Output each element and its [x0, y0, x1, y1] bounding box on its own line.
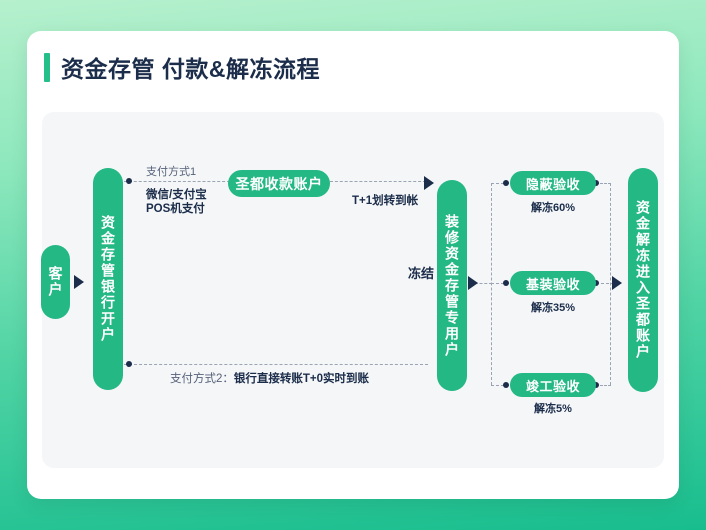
- label-payment-method-1-line2: POS机支付: [146, 202, 207, 216]
- node-escrow-special-account[interactable]: 装修资金存管专用户: [437, 180, 467, 391]
- flowchart-canvas: 资金存管 付款&解冻流程 客户 资金存管银行开户 圣都收款账户 装修资金存管专用…: [0, 0, 706, 530]
- milestone-unfreeze-2: 解冻5%: [498, 400, 608, 416]
- milestone-unfreeze-1: 解冻35%: [498, 299, 608, 315]
- node-bank-account-open[interactable]: 资金存管银行开户: [93, 168, 123, 390]
- node-unfreeze-to-shengdu[interactable]: 资金解冻进入圣都账户: [628, 168, 658, 392]
- milestone-concealed-acceptance[interactable]: 隐蔽验收: [510, 171, 596, 195]
- label-payment-method-1: 支付方式1: [146, 163, 196, 179]
- connector-bottom-path: [124, 364, 428, 365]
- arrow-customer-to-bank: [74, 275, 84, 289]
- milestone-base-acceptance[interactable]: 基装验收: [510, 271, 596, 295]
- arrow-to-unfreeze-account: [612, 276, 622, 290]
- label-transfer-t-plus-1: T+1划转到帐: [352, 192, 418, 208]
- bracket-right-vertical: [610, 183, 611, 385]
- bracket-dot-left-0: [503, 180, 509, 186]
- node-customer[interactable]: 客户: [41, 245, 70, 319]
- label-payment-method-2-lead: 支付方式2：: [170, 373, 234, 385]
- bracket-dot-left-2: [503, 382, 509, 388]
- milestone-completion-acceptance[interactable]: 竣工验收: [510, 373, 596, 397]
- connector-dot-bottom: [126, 361, 132, 367]
- bracket-left-vertical: [491, 183, 492, 385]
- connector-top-path: [124, 181, 230, 182]
- label-payment-method-1-detail: 微信/支付宝 POS机支付: [146, 188, 207, 216]
- arrow-to-escrow-account: [424, 176, 434, 190]
- title-accent-bar: [44, 53, 50, 82]
- connector-top-path-after: [330, 181, 426, 182]
- title-text: 资金存管 付款&解冻流程: [61, 50, 320, 84]
- label-payment-method-2: 支付方式2：银行直接转账T+0实时到账: [170, 370, 369, 386]
- page-title: 资金存管 付款&解冻流程: [44, 50, 320, 84]
- milestone-unfreeze-0: 解冻60%: [498, 199, 608, 215]
- label-payment-method-2-rest: 银行直接转账T+0实时到账: [234, 373, 369, 385]
- label-payment-method-1-line1: 微信/支付宝: [146, 188, 207, 202]
- connector-dot-top: [126, 178, 132, 184]
- bracket-dot-left-1: [503, 280, 509, 286]
- label-freeze: 冻结: [408, 266, 424, 281]
- node-shengdu-receive-account[interactable]: 圣都收款账户: [228, 170, 330, 197]
- arrow-escrow-to-milestones: [468, 276, 478, 290]
